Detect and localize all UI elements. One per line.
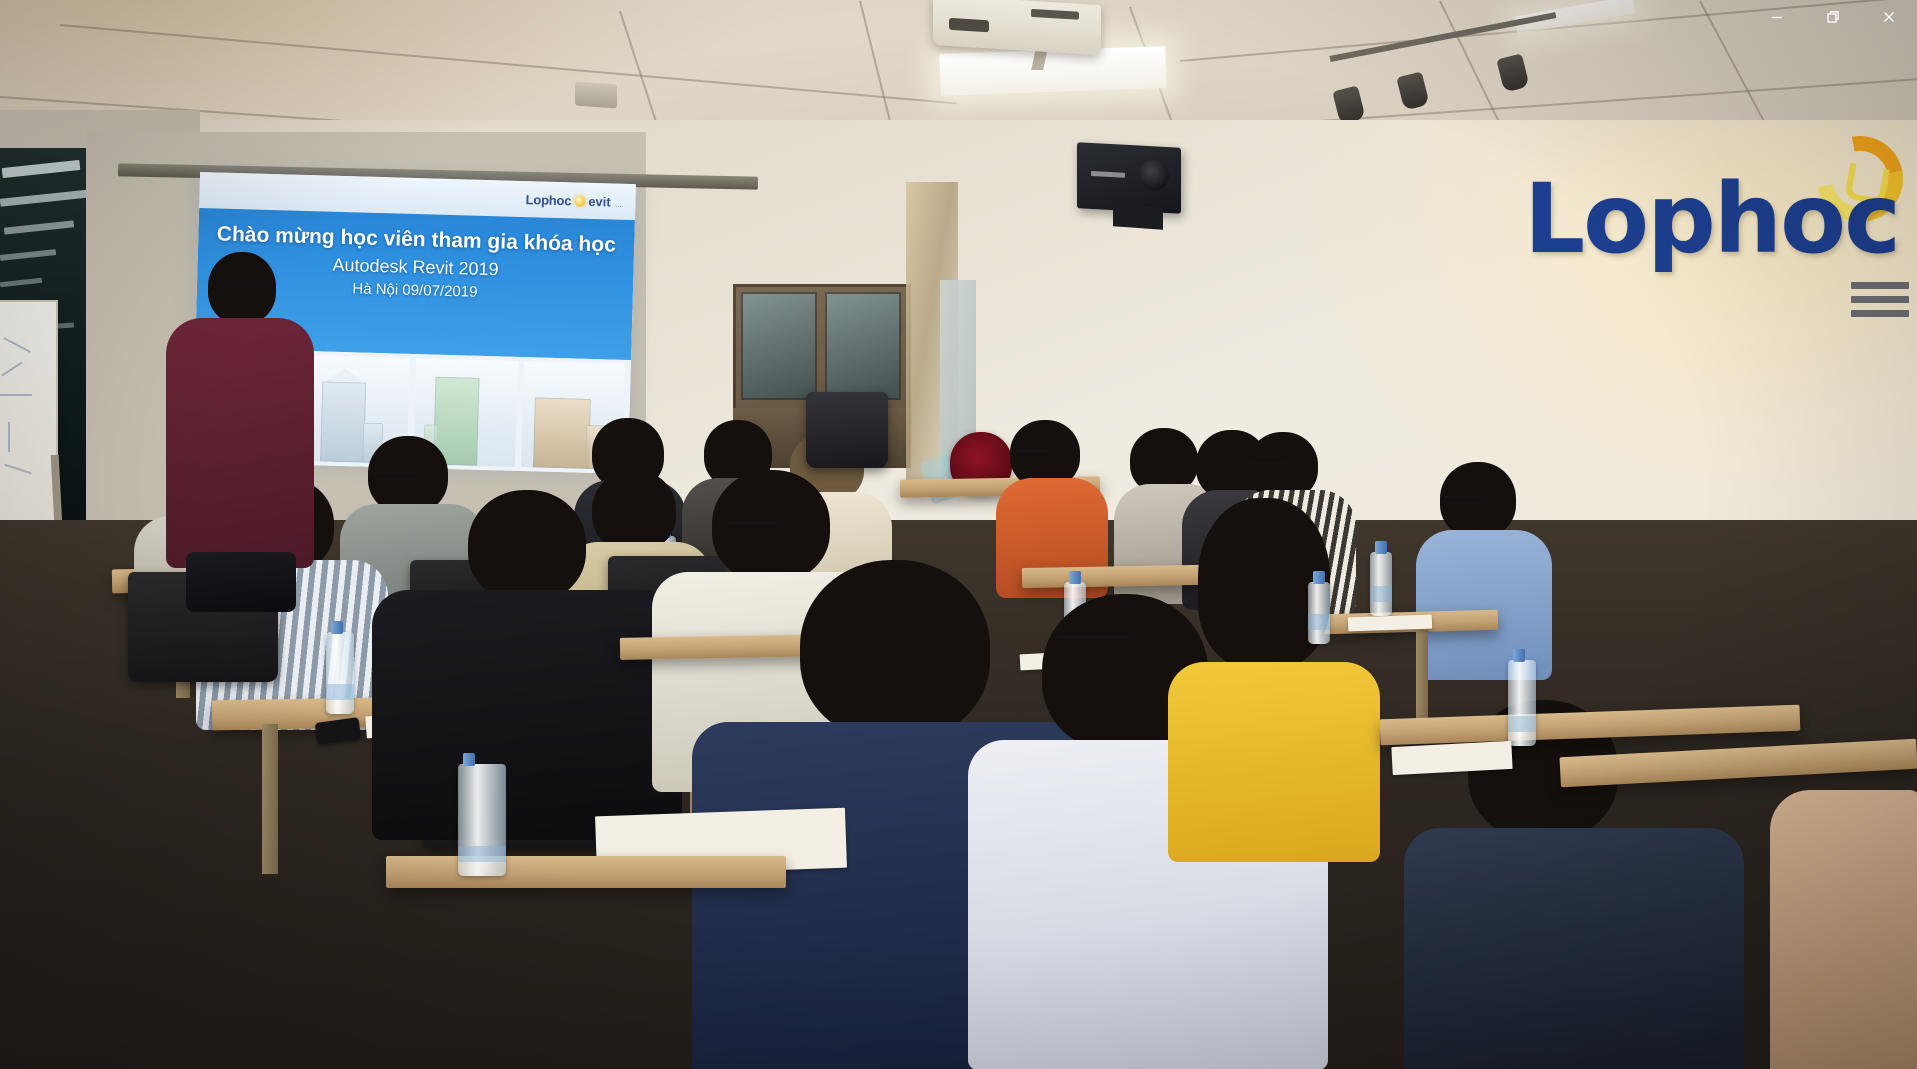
minimize-icon bbox=[1770, 10, 1784, 24]
glasses-icon bbox=[216, 284, 268, 293]
close-button[interactable] bbox=[1861, 0, 1917, 34]
glasses-icon bbox=[1016, 450, 1050, 458]
paper-sheet bbox=[1348, 615, 1432, 632]
whiteboard-marking bbox=[8, 422, 10, 452]
window-reflection bbox=[4, 220, 74, 234]
water-bottle bbox=[458, 764, 506, 876]
wall-logo: Lophoc bbox=[1524, 176, 1899, 262]
window-controls bbox=[1749, 0, 1917, 34]
cabinet-glass-door bbox=[825, 292, 901, 400]
desk-leg bbox=[1416, 630, 1428, 722]
student-body bbox=[1770, 790, 1917, 1069]
speaker-bracket bbox=[1113, 204, 1163, 229]
logo-bar bbox=[1851, 310, 1909, 317]
glasses-icon bbox=[1444, 496, 1482, 504]
slide-product-suffix: ..... bbox=[614, 201, 624, 208]
whiteboard-marking bbox=[1, 361, 22, 376]
speaker-brand-label bbox=[1091, 171, 1125, 178]
student-body bbox=[1404, 828, 1744, 1069]
wall-speaker bbox=[1077, 142, 1181, 213]
student-head bbox=[800, 560, 990, 740]
logo-bar bbox=[1851, 296, 1909, 303]
window-reflection bbox=[0, 278, 42, 287]
wall-logo-text: Lophoc bbox=[1524, 176, 1899, 262]
desk-leg bbox=[262, 724, 278, 874]
instructor-body bbox=[166, 318, 314, 568]
cabinet-glass-door bbox=[741, 292, 817, 400]
water-bottle bbox=[1508, 660, 1536, 746]
slide-brand-logo: Lophoc evit ..... bbox=[525, 192, 623, 210]
menu-bars-icon bbox=[1851, 282, 1909, 324]
water-bottle bbox=[326, 632, 354, 714]
glasses-icon bbox=[1058, 636, 1132, 644]
speaker-cone bbox=[1139, 160, 1169, 192]
logo-bar bbox=[1851, 282, 1909, 289]
projector-lens bbox=[949, 18, 989, 32]
chair bbox=[806, 392, 888, 468]
student-body bbox=[1416, 530, 1552, 680]
slide-product-name: evit bbox=[588, 193, 611, 209]
glasses-icon bbox=[726, 522, 780, 530]
student-body bbox=[372, 590, 682, 840]
water-bottle bbox=[1370, 552, 1392, 616]
classroom-photograph: Lophoc evit ..... Chào mừng học viên tha… bbox=[0, 0, 1917, 1069]
lightbulb-icon bbox=[574, 195, 585, 206]
glasses-icon bbox=[1252, 462, 1284, 470]
instructor-legs bbox=[186, 552, 296, 612]
window-reflection bbox=[0, 249, 56, 261]
whiteboard-marking bbox=[3, 337, 30, 353]
water-bottle bbox=[1308, 582, 1330, 644]
restore-button[interactable] bbox=[1805, 0, 1861, 34]
ceiling-vent bbox=[575, 82, 617, 109]
window-reflection bbox=[2, 160, 81, 178]
minimize-button[interactable] bbox=[1749, 0, 1805, 34]
slide-brand-name: Lophoc bbox=[525, 192, 571, 208]
photo-viewer-window: Lophoc evit ..... Chào mừng học viên tha… bbox=[0, 0, 1917, 1069]
window-reflection bbox=[0, 189, 92, 207]
student-head bbox=[592, 470, 676, 552]
close-icon bbox=[1882, 10, 1896, 24]
restore-icon bbox=[1826, 10, 1840, 24]
glasses-icon bbox=[374, 472, 416, 480]
whiteboard-marking bbox=[0, 394, 32, 396]
ceiling-light-panel bbox=[939, 46, 1166, 96]
whiteboard-marking bbox=[4, 464, 31, 475]
projector-vent bbox=[1031, 9, 1079, 20]
student-head bbox=[468, 490, 586, 602]
desk bbox=[386, 856, 786, 888]
student-body bbox=[1168, 662, 1380, 862]
